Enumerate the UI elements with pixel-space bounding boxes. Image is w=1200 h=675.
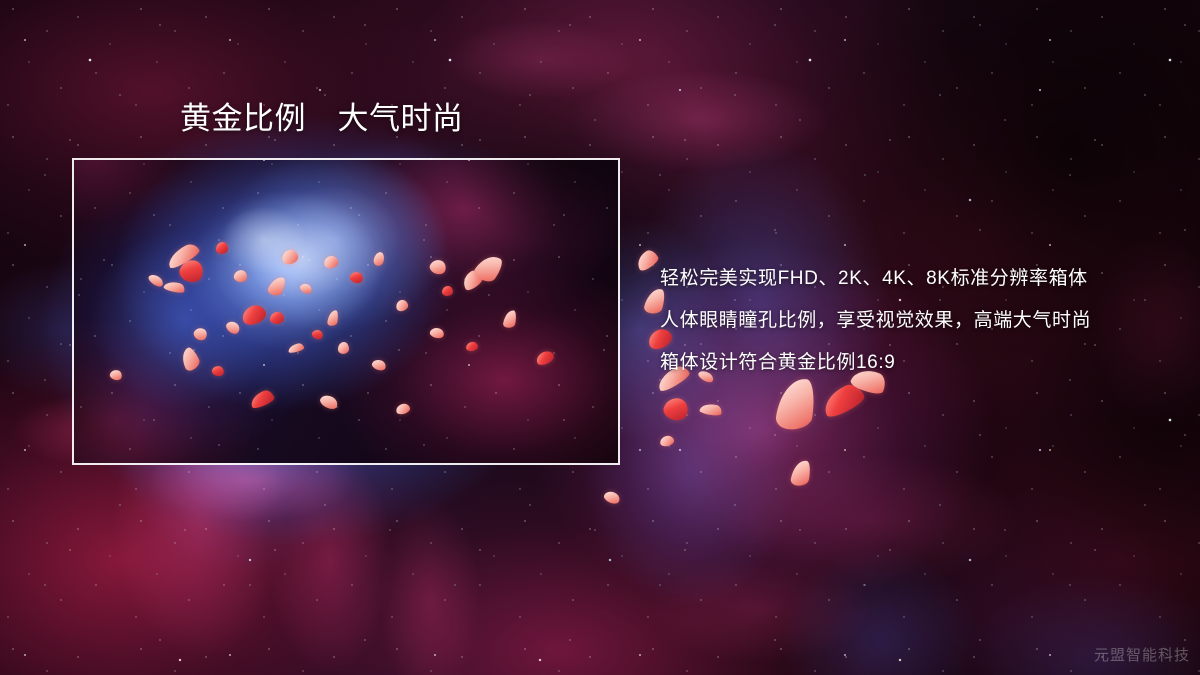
petal [224,319,242,336]
petal [429,326,445,339]
body-line-2: 人体眼睛瞳孔比例，享受视觉效果，高端大气时尚 [660,300,1180,342]
petal [211,365,225,378]
petal [661,395,691,423]
petal [699,402,723,417]
petal [659,435,675,448]
frame-nebula-shadow [74,160,618,463]
slide-canvas: 黄金比例 大气时尚 轻松完美实现FHD、2K、4K、8K标准分辨率箱体 人体眼睛… [0,0,1200,675]
watermark: 元盟智能科技 [1094,644,1190,665]
petal [266,274,287,298]
petal [371,358,388,372]
petal [395,298,410,312]
petal [465,341,478,352]
petal [323,255,339,269]
petal [318,392,340,411]
body-copy: 轻松完美实现FHD、2K、4K、8K标准分辨率箱体 人体眼睛瞳孔比例，享受视觉效… [660,258,1180,384]
petal [163,279,186,294]
petal [327,309,339,326]
frame-petals [74,160,618,463]
petal [270,312,284,324]
petal [534,349,555,367]
petal [459,268,484,292]
petal [299,282,314,296]
photo-frame [72,158,620,465]
petal [164,241,201,270]
petal [280,248,299,266]
petal [349,270,365,284]
petal [790,459,812,488]
body-line-1: 轻松完美实现FHD、2K、4K、8K标准分辨率箱体 [660,258,1180,300]
frame-nebula-glow [74,160,618,463]
petal [287,342,304,353]
petal [819,380,867,419]
petal [503,309,518,329]
petal [216,242,228,254]
petal [472,250,506,286]
petal [233,269,248,283]
petal [147,272,165,289]
petal [395,402,411,415]
page-title: 黄金比例 大气时尚 [180,100,464,139]
petal [602,489,621,506]
frame-nebula-base [74,160,618,463]
photo-frame-inner [74,160,618,463]
petal [177,257,206,286]
petal [109,368,124,381]
petal [192,325,209,342]
petal [248,388,275,409]
petal [373,251,386,267]
frame-starfield-medium [74,160,618,463]
petal [633,248,660,273]
petal [240,302,269,327]
body-line-3: 箱体设计符合黄金比例16:9 [660,342,1180,384]
petal [775,376,818,433]
petal [338,342,349,354]
petal [442,286,453,296]
frame-starfield-small [74,160,618,463]
petal [428,258,448,277]
petal [311,328,325,341]
petal [178,346,202,373]
